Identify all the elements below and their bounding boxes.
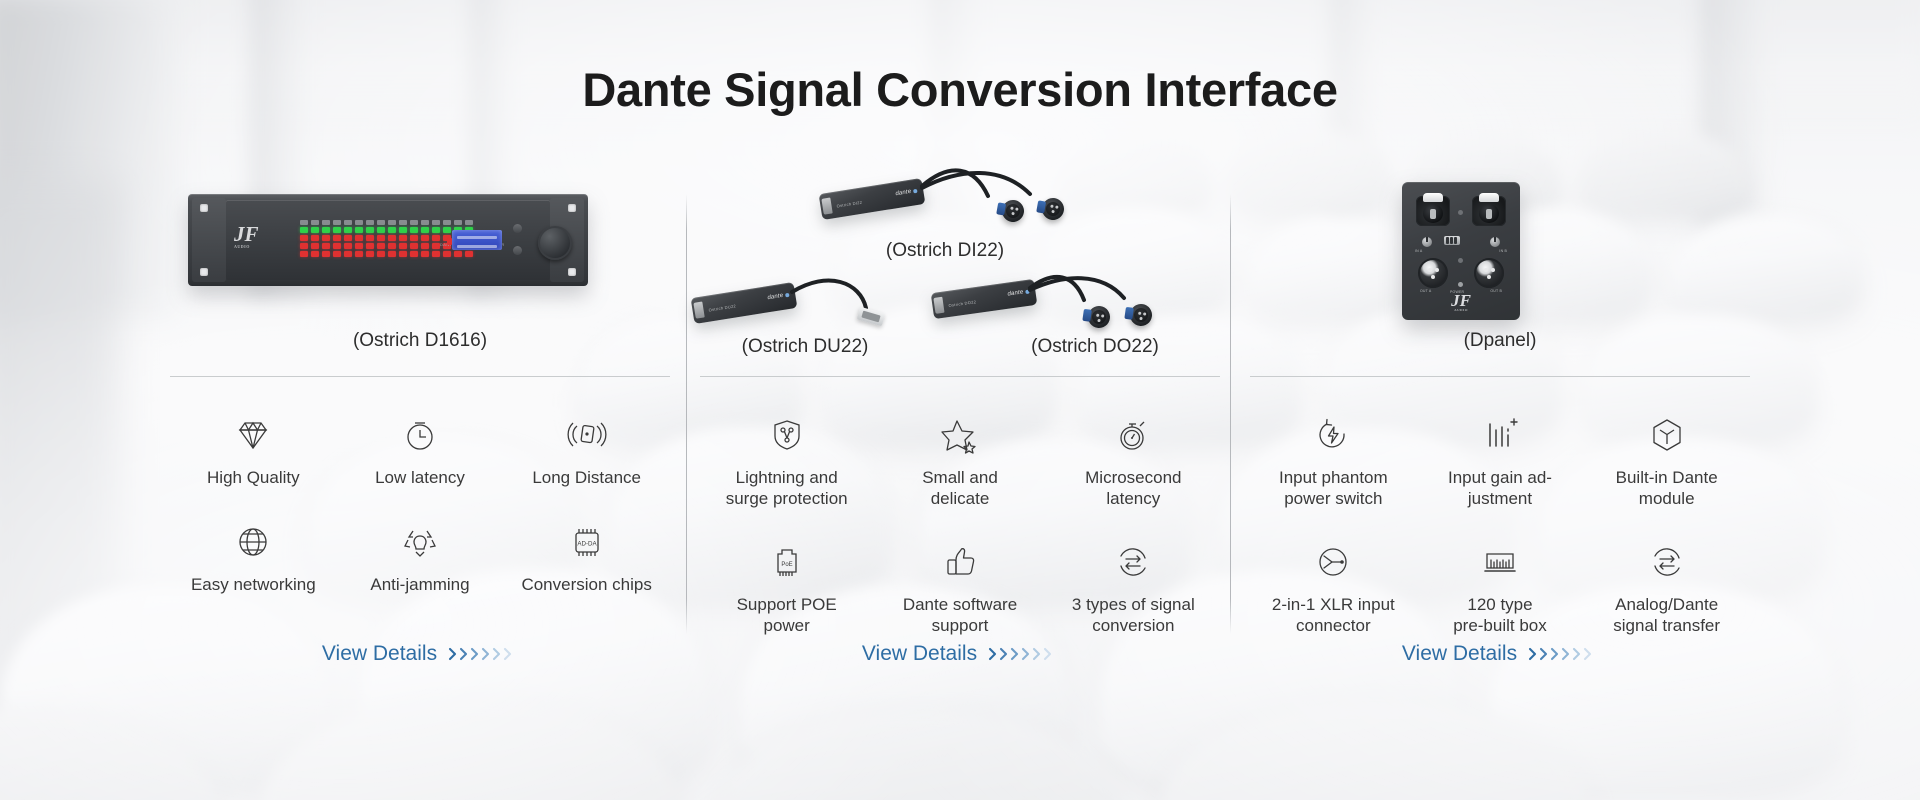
feature-label: Anti-jamming bbox=[337, 575, 504, 596]
feature-label: Built-in Dante module bbox=[1583, 468, 1750, 509]
column-d1616: JF AUDIO bbox=[170, 180, 670, 700]
feature-label: Support POE power bbox=[700, 595, 873, 636]
feature-120-type-pre-built-box: 120 type pre-built box bbox=[1417, 539, 1584, 636]
view-details-link-dongles[interactable]: View Details bbox=[700, 642, 1220, 666]
xlr-output-b bbox=[1474, 258, 1504, 288]
transfer-icon bbox=[1583, 539, 1750, 585]
feature-label: Easy networking bbox=[170, 575, 337, 596]
feature-label: 3 types of signal conversion bbox=[1047, 595, 1220, 636]
clock-icon bbox=[337, 412, 504, 458]
feature-label: Input gain ad- justment bbox=[1417, 468, 1584, 509]
feature-2-in-1-xlr-input-connector: 2-in-1 XLR input connector bbox=[1250, 539, 1417, 636]
feature-low-latency: Low latency bbox=[337, 412, 504, 489]
feature-input-gain-adjustment: Input gain ad- justment bbox=[1417, 412, 1584, 509]
chevron-right-icon bbox=[988, 646, 1058, 662]
rack-brand-logo: JF AUDIO bbox=[234, 224, 260, 254]
signal-waves-icon bbox=[503, 412, 670, 458]
chevron-right-icon bbox=[1528, 646, 1598, 662]
caption-ostrich-do22: (Ostrich DO22) bbox=[960, 336, 1230, 358]
view-details-label: View Details bbox=[322, 642, 437, 666]
feature-label: 120 type pre-built box bbox=[1417, 595, 1584, 636]
feature-label: High Quality bbox=[170, 468, 337, 489]
view-details-label: View Details bbox=[1402, 642, 1517, 666]
features-dongles: Lightning and surge protection Small and… bbox=[700, 412, 1220, 637]
column-rule-b bbox=[700, 376, 1220, 377]
chip-icon: AD-DA bbox=[503, 519, 670, 565]
feature-label: Small and delicate bbox=[873, 468, 1046, 509]
content-layer: Dante Signal Conversion Interface bbox=[0, 0, 1920, 800]
caption-ostrich-du22: (Ostrich DU22) bbox=[670, 336, 940, 358]
feature-label: Long Distance bbox=[503, 468, 670, 489]
combo-jack-a bbox=[1416, 196, 1450, 226]
chip-icon-text: AD-DA bbox=[577, 540, 597, 547]
view-details-label: View Details bbox=[862, 642, 977, 666]
du22-screenprint: Ostrich DU22 bbox=[708, 303, 736, 312]
product-stage-d1616: JF AUDIO bbox=[170, 180, 670, 380]
device-ostrich-do22: Ostrich DO22 dante bbox=[932, 272, 1172, 340]
feature-3-types-signal-conversion: 3 types of signal conversion bbox=[1047, 539, 1220, 636]
feature-label: Microsecond latency bbox=[1047, 468, 1220, 509]
column-dpanel: IN A IN B OUT A OUT B bbox=[1250, 180, 1750, 700]
anti-jamming-icon bbox=[337, 519, 504, 565]
xlr-merge-icon bbox=[1250, 539, 1417, 585]
feature-small-and-delicate: Small and delicate bbox=[873, 412, 1046, 509]
cube-hex-icon bbox=[1583, 412, 1750, 458]
poe-port-icon: PoE bbox=[700, 539, 873, 585]
rack-encoder-knob bbox=[538, 226, 572, 260]
feature-label: Dante software support bbox=[873, 595, 1046, 636]
chevron-right-icon bbox=[448, 646, 518, 662]
column-rule-a bbox=[170, 376, 670, 377]
feature-anti-jamming: Anti-jamming bbox=[337, 519, 504, 596]
feature-label: Input phantom power switch bbox=[1250, 468, 1417, 509]
rack-display bbox=[452, 230, 502, 250]
dante-mark: dante bbox=[767, 293, 784, 301]
shield-icon bbox=[700, 412, 873, 458]
phantom-power-icon bbox=[1250, 412, 1417, 458]
panel-label-in-b: IN B bbox=[1499, 249, 1507, 253]
star-icon bbox=[873, 412, 1046, 458]
phantom-switch-a bbox=[1444, 236, 1460, 245]
gain-knob-b bbox=[1490, 237, 1500, 247]
caption-ostrich-d1616: (Ostrich D1616) bbox=[170, 330, 670, 352]
panel-label-in-a: IN A bbox=[1415, 249, 1422, 253]
panel-brand-logo: JF AUDIO bbox=[1402, 292, 1520, 313]
diamond-icon bbox=[170, 412, 337, 458]
dante-mark: dante bbox=[1007, 289, 1024, 297]
feature-dante-software-support: Dante software support bbox=[873, 539, 1046, 636]
di22-screenprint: Ostrich DI22 bbox=[836, 200, 862, 209]
column-dante-dongles: Ostrich DI22 dante bbox=[700, 180, 1220, 700]
feature-conversion-chips: AD-DA Conversion chips bbox=[503, 519, 670, 596]
globe-icon bbox=[170, 519, 337, 565]
feature-long-distance: Long Distance bbox=[503, 412, 670, 489]
column-divider-2 bbox=[1230, 194, 1231, 634]
view-details-link-d1616[interactable]: View Details bbox=[170, 642, 670, 666]
feature-lightning-surge-protection: Lightning and surge protection bbox=[700, 412, 873, 509]
feature-label: Low latency bbox=[337, 468, 504, 489]
feature-easy-networking: Easy networking bbox=[170, 519, 337, 596]
device-dpanel: IN A IN B OUT A OUT B bbox=[1402, 182, 1520, 320]
product-stage-dpanel: IN A IN B OUT A OUT B bbox=[1250, 180, 1750, 380]
combo-jack-b bbox=[1472, 196, 1506, 226]
prebuilt-box-icon bbox=[1417, 539, 1584, 585]
features-dpanel: Input phantom power switch Input gain ad… bbox=[1250, 412, 1750, 637]
caption-dpanel: (Dpanel) bbox=[1250, 330, 1750, 352]
feature-support-poe-power: PoE Support POE power bbox=[700, 539, 873, 636]
product-stage-dongles: Ostrich DI22 dante bbox=[700, 180, 1220, 380]
page-title: Dante Signal Conversion Interface bbox=[0, 62, 1920, 117]
xlr-output-a bbox=[1418, 258, 1448, 288]
column-divider-1 bbox=[686, 194, 687, 634]
feature-input-phantom-power-switch: Input phantom power switch bbox=[1250, 412, 1417, 509]
feature-label: Analog/Dante signal transfer bbox=[1583, 595, 1750, 636]
feature-high-quality: High Quality bbox=[170, 412, 337, 489]
column-rule-c bbox=[1250, 376, 1750, 377]
device-ostrich-d1616: JF AUDIO bbox=[188, 194, 588, 286]
gain-bars-icon bbox=[1417, 412, 1584, 458]
feature-built-in-dante-module: Built-in Dante module bbox=[1583, 412, 1750, 509]
feature-analog-dante-signal-transfer: Analog/Dante signal transfer bbox=[1583, 539, 1750, 636]
signal-conversion-icon bbox=[1047, 539, 1220, 585]
device-ostrich-di22: Ostrich DI22 dante bbox=[820, 168, 1070, 248]
caption-ostrich-di22: (Ostrich DI22) bbox=[810, 240, 1080, 262]
feature-label: 2-in-1 XLR input connector bbox=[1250, 595, 1417, 636]
view-details-link-dpanel[interactable]: View Details bbox=[1250, 642, 1750, 666]
dante-mark: dante bbox=[895, 189, 912, 197]
feature-label: Lightning and surge protection bbox=[700, 468, 873, 509]
do22-screenprint: Ostrich DO22 bbox=[948, 299, 976, 308]
page-root: Dante Signal Conversion Interface bbox=[0, 0, 1920, 800]
stopwatch-icon bbox=[1047, 412, 1220, 458]
feature-microsecond-latency: Microsecond latency bbox=[1047, 412, 1220, 509]
poe-icon-text: PoE bbox=[781, 562, 792, 568]
device-ostrich-du22: Ostrich DU22 dante bbox=[692, 276, 902, 340]
features-d1616: High Quality Low latency bbox=[170, 412, 670, 595]
feature-label: Conversion chips bbox=[503, 575, 670, 596]
product-columns: JF AUDIO bbox=[0, 180, 1920, 700]
gain-knob-a bbox=[1422, 237, 1432, 247]
thumbs-up-icon bbox=[873, 539, 1046, 585]
